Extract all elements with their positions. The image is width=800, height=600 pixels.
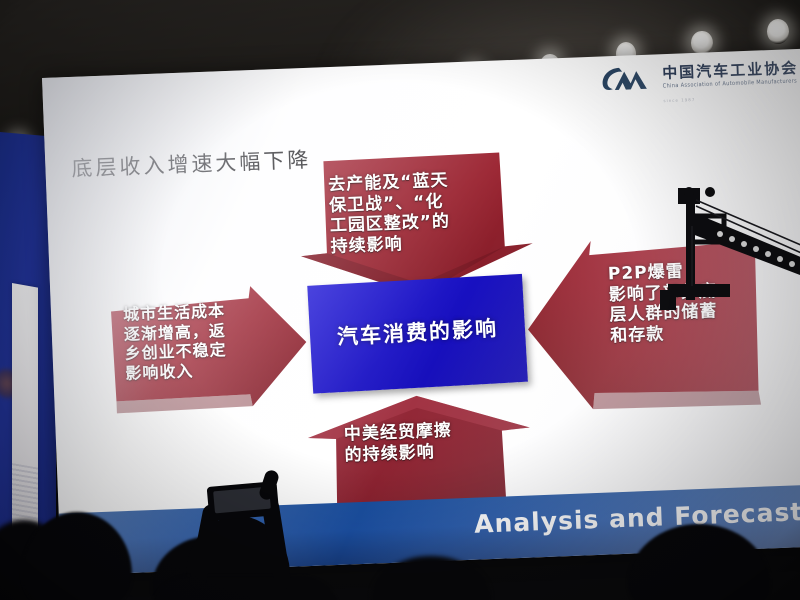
arrow-text-line: 乡创业不稳定 bbox=[124, 340, 227, 363]
caam-logo-mark bbox=[599, 62, 656, 94]
conference-photo: 中国汽车工业协会 China Association of Automobile… bbox=[0, 0, 800, 600]
arrow-text-line: 中美经贸摩擦 bbox=[344, 421, 453, 446]
arrow-left-text: 城市生活成本逐渐增高，返乡创业不稳定影响收入 bbox=[123, 301, 228, 383]
caam-logo: 中国汽车工业协会 China Association of Automobile… bbox=[599, 57, 799, 95]
slide-title: 底层收入增速大幅下降 bbox=[71, 144, 312, 183]
arrow-text-line: 的持续影响 bbox=[344, 441, 453, 466]
caam-logo-subtext: since 1987 bbox=[663, 97, 695, 103]
arrow-text-line: 影响收入 bbox=[125, 360, 228, 383]
arrow-text-line: 和存款 bbox=[610, 322, 719, 347]
arrow-bottom-text: 中美经贸摩擦的持续影响 bbox=[344, 421, 454, 467]
slide-footer-text: Analysis and Forecast bbox=[474, 497, 800, 539]
center-node: 汽车消费的影响 bbox=[307, 274, 528, 394]
arrow-left: 城市生活成本逐渐增高，返乡创业不稳定影响收入 bbox=[108, 282, 309, 419]
camera-jib-arm bbox=[648, 186, 800, 326]
ceiling-light bbox=[691, 31, 712, 55]
center-node-label: 汽车消费的影响 bbox=[328, 315, 507, 352]
arrow-top-text: 去产能及“蓝天保卫战”、“化工园区整改”的持续影响 bbox=[328, 170, 451, 257]
